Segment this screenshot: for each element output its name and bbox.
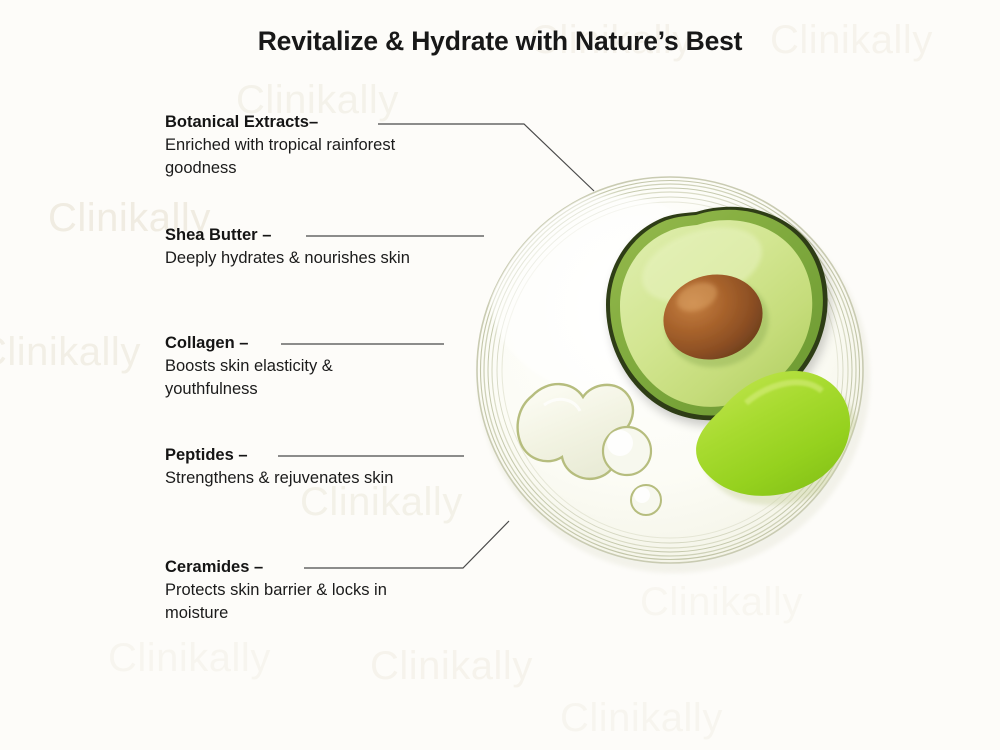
label-dash: – — [254, 558, 263, 576]
label-dash: – — [238, 446, 247, 464]
ingredient-description: Enriched with tropical rainforest goodne… — [165, 134, 425, 179]
watermark: Clinikally — [0, 330, 141, 375]
gel-droplet-large — [603, 427, 651, 475]
ingredient-description: Strengthens & rejuvenates skin — [165, 467, 425, 490]
gel-droplet-small — [631, 485, 661, 515]
label-dash: – — [262, 226, 271, 244]
ingredient-label-collagen: Collagen – Boosts skin elasticity & yout… — [165, 333, 425, 400]
petri-dish-illustration — [470, 155, 880, 585]
infographic-canvas: ClinikallyClinikallyClinikallyClinikally… — [0, 0, 1000, 750]
ingredient-label-botanical-extracts: Botanical Extracts– Enriched with tropic… — [165, 112, 425, 179]
page-title: Revitalize & Hydrate with Nature’s Best — [0, 26, 1000, 57]
watermark: Clinikally — [370, 644, 533, 689]
ingredient-name: Botanical Extracts– — [165, 112, 425, 133]
ingredient-name: Peptides – — [165, 445, 425, 466]
ingredient-label-peptides: Peptides – Strengthens & rejuvenates ski… — [165, 445, 425, 490]
ingredient-description: Deeply hydrates & nourishes skin — [165, 247, 425, 270]
label-dash: – — [309, 113, 318, 131]
watermark: Clinikally — [640, 580, 803, 625]
ingredient-name: Ceramides – — [165, 557, 425, 578]
ingredient-name: Collagen – — [165, 333, 425, 354]
ingredient-description: Boosts skin elasticity & youthfulness — [165, 355, 425, 400]
watermark: Clinikally — [108, 636, 271, 681]
ingredient-label-ceramides: Ceramides – Protects skin barrier & lock… — [165, 557, 425, 624]
ingredient-name: Shea Butter – — [165, 225, 425, 246]
ingredient-description: Protects skin barrier & locks in moistur… — [165, 579, 425, 624]
ingredient-label-shea-butter: Shea Butter – Deeply hydrates & nourishe… — [165, 225, 425, 270]
watermark: Clinikally — [560, 696, 723, 741]
label-dash: – — [239, 334, 248, 352]
